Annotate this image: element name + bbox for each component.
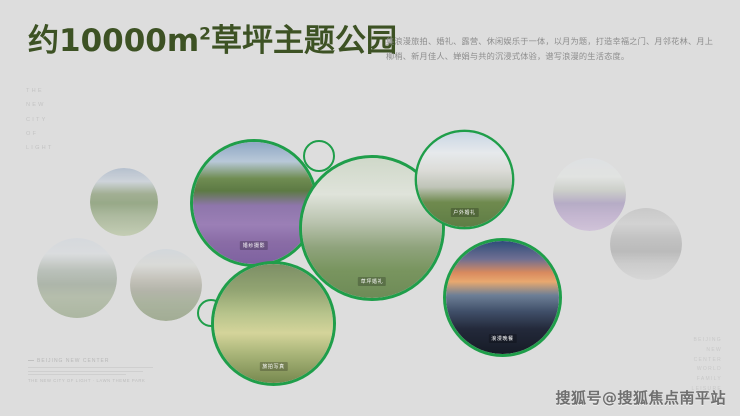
left-caption-line-4: OF	[26, 127, 53, 141]
bottom-right-caption-line-2: NEW	[692, 346, 723, 356]
circle-bride-portrait[interactable]: 旅拍写真	[214, 264, 333, 383]
left-caption-line-3: CITY	[26, 113, 53, 127]
circle-church-wedding-badge: 户外婚礼	[450, 208, 478, 217]
circle-picnic-lawn-photo	[37, 238, 117, 318]
circle-market-fair	[130, 249, 202, 321]
circle-banquet-hall-photo	[610, 208, 682, 280]
circle-hillside-view-photo	[90, 168, 158, 236]
circle-banquet-hall	[610, 208, 682, 280]
bottom-right-caption-line-3: CENTER	[692, 356, 723, 366]
bottom-right-caption-line-4: WORLD	[692, 365, 723, 375]
circle-garden-wedding-badge: 草坪婚礼	[358, 277, 386, 286]
page-title-suffix: 草坪主题公园	[211, 23, 397, 59]
left-caption-stack: THE NEW CITY OF LIGHT	[26, 84, 53, 155]
circle-picnic-lawn	[37, 238, 117, 318]
bottom-left-heading: BEIJING NEW CENTER	[28, 358, 153, 364]
page-title-superscript: 2	[199, 25, 211, 45]
circle-bride-portrait-badge: 旅拍写真	[259, 362, 287, 371]
left-caption-line-5: LIGHT	[26, 141, 53, 155]
page-title-prefix: 约10000m	[28, 23, 199, 59]
intro-paragraph: 集浪漫旅拍、婚礼、露营、休闲娱乐于一体，以月为题，打造幸福之门、月邻花林、月上柳…	[386, 34, 721, 64]
circle-group-lavender-photo	[553, 158, 626, 231]
left-caption-line-2: NEW	[26, 98, 53, 112]
circle-market-fair-photo	[130, 249, 202, 321]
page-title: 约10000m2草坪主题公园	[28, 26, 397, 57]
circle-hillside-view	[90, 168, 158, 236]
circle-sunset-dinner-badge: 浪漫晚餐	[488, 334, 516, 343]
circle-lavender-couple[interactable]: 婚纱摄影	[193, 142, 315, 264]
bottom-right-caption-line-1: BEIJING	[692, 336, 723, 346]
circle-church-wedding[interactable]: 户外婚礼	[417, 132, 512, 227]
slide-canvas: 约10000m2草坪主题公园 集浪漫旅拍、婚礼、露营、休闲娱乐于一体，以月为题，…	[0, 0, 740, 416]
bottom-left-rule-2	[28, 371, 143, 372]
bottom-left-rule-1	[28, 367, 153, 368]
sohu-watermark: 搜狐号@搜狐焦点南平站	[555, 387, 726, 408]
dash-icon	[28, 360, 34, 361]
circle-group-lavender	[553, 158, 626, 231]
bottom-left-rule-3	[28, 374, 126, 375]
ring-accent-top	[303, 140, 335, 172]
left-caption-line-1: THE	[26, 84, 53, 98]
bottom-left-heading-text: BEIJING NEW CENTER	[37, 358, 109, 364]
bottom-right-caption-line-5: FAMILY	[692, 375, 723, 385]
bottom-left-subtext: THE NEW CITY OF LIGHT · LAWN THEME PARK	[28, 378, 153, 383]
bottom-left-block: BEIJING NEW CENTER THE NEW CITY OF LIGHT…	[28, 358, 153, 383]
circle-sunset-dinner[interactable]: 浪漫晚餐	[446, 241, 559, 354]
circle-lavender-couple-badge: 婚纱摄影	[240, 241, 268, 250]
